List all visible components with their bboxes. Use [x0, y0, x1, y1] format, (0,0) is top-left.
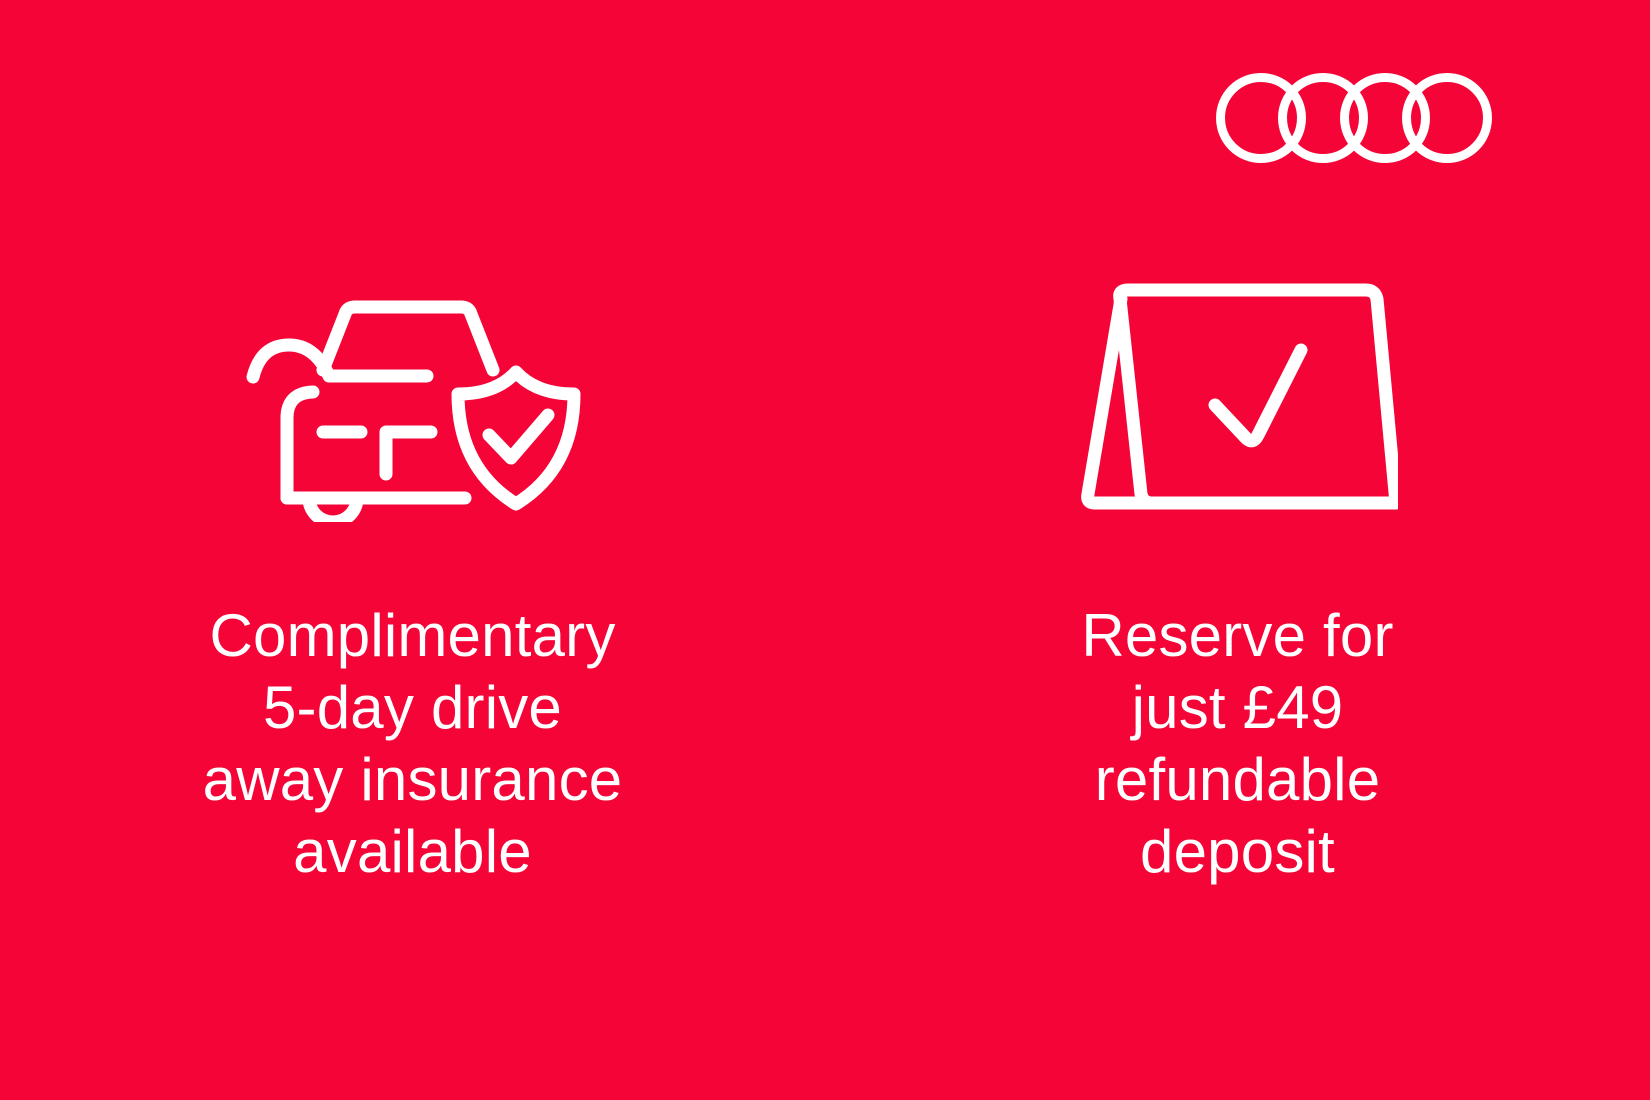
promo-banner: Complimentary 5-day drive away insurance…: [0, 0, 1650, 1100]
feature-caption-insurance: Complimentary 5-day drive away insurance…: [103, 600, 723, 888]
car-shield-svg: [243, 272, 583, 522]
tent-card-check-svg: [1078, 272, 1398, 522]
tent-card-check-icon: [1078, 272, 1398, 522]
feature-caption-deposit: Reserve for just £49 refundable deposit: [1008, 600, 1468, 888]
car-shield-icon: [243, 272, 583, 522]
feature-item-deposit: Reserve for just £49 refundable deposit: [825, 0, 1650, 888]
feature-list: Complimentary 5-day drive away insurance…: [0, 0, 1650, 1100]
feature-item-insurance: Complimentary 5-day drive away insurance…: [0, 0, 825, 888]
